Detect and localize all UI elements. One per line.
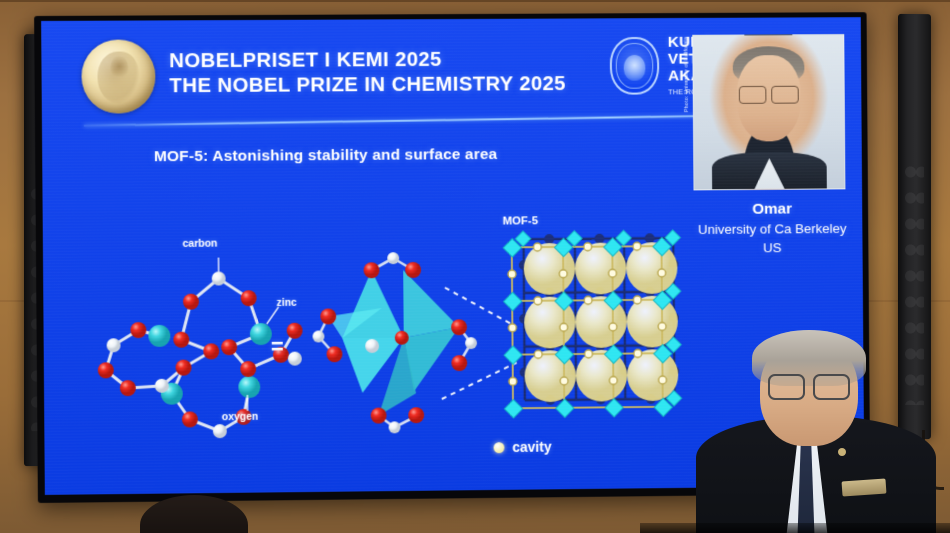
presenter-name-badge	[842, 478, 887, 496]
laureate-caption: Omar University of Ca Berkeley US	[634, 200, 865, 258]
nobel-medal-icon	[81, 39, 155, 113]
portrait-glasses-icon	[739, 86, 799, 102]
equals-sign: =	[271, 334, 284, 360]
presenter-lapel-pin	[838, 448, 846, 456]
presenter-glasses-icon	[768, 374, 850, 396]
slide-title-english: THE NOBEL PRIZE IN CHEMISTRY 2025	[169, 71, 566, 98]
slide-title-block: NOBELPRISET I KEMI 2025 THE NOBEL PRIZE …	[169, 46, 566, 98]
laureate-affiliation: University of Ca Berkeley	[634, 220, 865, 239]
nobel-profile-relief	[98, 51, 140, 103]
mof5-structure-label: MOF-5	[503, 215, 538, 227]
label-oxygen: oxygen	[222, 411, 259, 423]
academy-seal-face	[624, 55, 646, 81]
academy-seal-icon	[610, 36, 660, 94]
slide-subtitle: MOF-5: Astonishing stability and surface…	[154, 146, 497, 166]
laureate-portrait-wrap: Photo: University of California	[692, 34, 845, 190]
slide-title-swedish: NOBELPRISET I KEMI 2025	[169, 46, 566, 73]
presenter-at-podium	[690, 330, 940, 533]
label-carbon: carbon	[183, 238, 218, 250]
screenshot-stage: NOBELPRISET I KEMI 2025 THE NOBEL PRIZE …	[0, 0, 950, 533]
laureate-name: Omar	[634, 200, 865, 220]
photo-credit: Photo: University of California	[683, 37, 689, 112]
laureate-portrait	[692, 34, 845, 190]
laureate-country: US	[634, 238, 864, 257]
podium-edge	[640, 523, 950, 533]
cavity-legend-label: cavity	[512, 439, 551, 455]
cavity-legend: cavity	[494, 439, 552, 455]
cavity-dot-icon	[494, 442, 505, 453]
label-zinc: zinc	[276, 297, 296, 309]
